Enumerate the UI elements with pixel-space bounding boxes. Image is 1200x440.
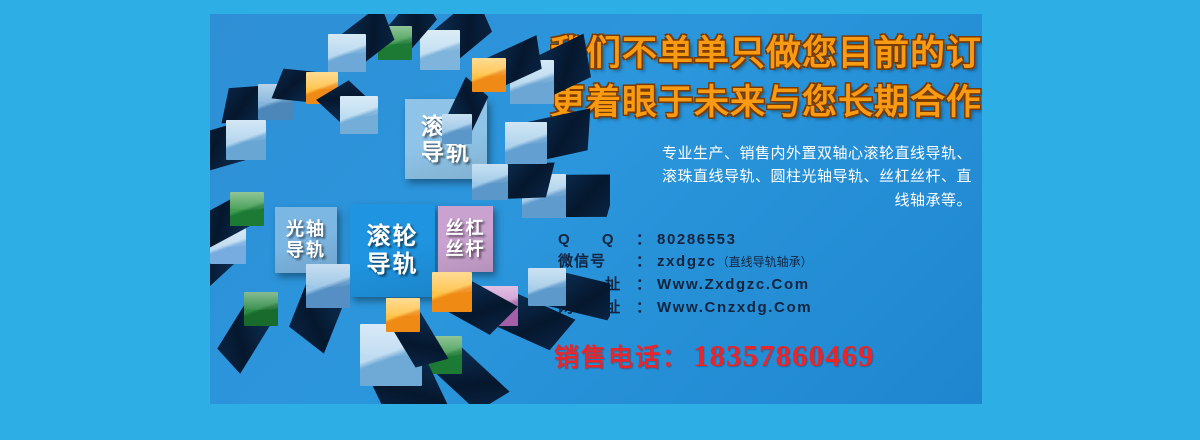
headline-line-1: 我们不单单只做您目前的订单 bbox=[550, 32, 972, 77]
cube-face bbox=[226, 120, 266, 160]
cube-block bbox=[386, 298, 420, 332]
banner-inner-panel: 滚珠导轨光轴导轨滚轮导轨丝杠丝杆 我们不单单只做您目前的订单 更着眼于未来与您长… bbox=[210, 14, 982, 404]
body-copy-line-1: 专业生产、销售内外置双轴心滚轮直线导轨、 bbox=[550, 142, 972, 166]
contact-label-qq: Q Q bbox=[558, 229, 636, 252]
cube-face bbox=[306, 264, 350, 308]
cube-gloss bbox=[432, 272, 472, 293]
cube-block bbox=[505, 122, 547, 164]
cube-gloss bbox=[442, 114, 472, 130]
cube-block bbox=[244, 292, 278, 326]
cube-face bbox=[442, 114, 472, 144]
contact-value-website2: Www.Cnzxdg.Com bbox=[657, 297, 812, 320]
cube-block bbox=[226, 120, 266, 160]
product-label-line-2: 导轨 bbox=[286, 240, 326, 261]
cube-face bbox=[386, 298, 420, 332]
cube-block bbox=[472, 58, 506, 92]
cube-face bbox=[472, 58, 506, 92]
contact-value-wechat: zxdgzc bbox=[657, 251, 717, 274]
cube-block bbox=[472, 164, 508, 200]
cube-gloss bbox=[386, 298, 420, 316]
cube-block bbox=[432, 272, 472, 312]
cube-gloss bbox=[340, 96, 378, 116]
cube-gloss bbox=[306, 72, 338, 89]
cube-block bbox=[420, 30, 460, 70]
cube-gloss bbox=[244, 292, 278, 310]
cube-face bbox=[432, 272, 472, 312]
body-copy: 专业生产、销售内外置双轴心滚轮直线导轨、 滚珠直线导轨、圆柱光轴导轨、丝杠丝杆、… bbox=[550, 142, 972, 213]
cube-gloss bbox=[306, 264, 350, 287]
contact-label-wechat: 微信号 bbox=[558, 251, 636, 274]
cube-face bbox=[244, 292, 278, 326]
contact-row-wechat: 微信号：zxdgzc（直线导轨轴承） bbox=[558, 251, 972, 274]
product-label-line-2: 导轨 bbox=[367, 251, 419, 278]
cube-block bbox=[442, 114, 472, 144]
contact-info-block: Q Q：80286553微信号：zxdgzc（直线导轨轴承）网 址：Www.Zx… bbox=[550, 229, 972, 320]
cube-gloss bbox=[328, 34, 366, 54]
product-label-line-1: 丝杠 bbox=[446, 218, 486, 239]
product-label-line-1: 光轴 bbox=[286, 219, 326, 240]
contact-colon: ： bbox=[636, 251, 651, 274]
contact-value-qq: 80286553 bbox=[657, 229, 737, 252]
cube-block bbox=[306, 264, 350, 308]
cube-gloss bbox=[472, 164, 508, 183]
sales-phone-number: 18357860469 bbox=[693, 338, 875, 374]
cube-gloss bbox=[420, 30, 460, 51]
cube-block bbox=[528, 268, 566, 306]
product-label-screw-rod: 丝杠丝杆 bbox=[438, 206, 493, 272]
cube-face bbox=[528, 268, 566, 306]
banner-text-column: 我们不单单只做您目前的订单 更着眼于未来与您长期合作 专业生产、销售内外置双轴心… bbox=[550, 32, 972, 374]
cube-gloss bbox=[230, 192, 264, 210]
product-label-roller-rail: 滚轮导轨 bbox=[350, 204, 435, 297]
cube-block bbox=[340, 96, 378, 134]
cube-face bbox=[472, 164, 508, 200]
contact-row-qq: Q Q：80286553 bbox=[558, 229, 972, 252]
contact-row-website2: 网 址：Www.Cnzxdg.Com bbox=[558, 297, 972, 320]
contact-row-website1: 网 址：Www.Zxdgzc.Com bbox=[558, 274, 972, 297]
body-copy-line-2: 滚珠直线导轨、圆柱光轴导轨、丝杠丝杆、直 bbox=[550, 165, 972, 189]
cube-gloss bbox=[472, 58, 506, 76]
cube-gloss bbox=[505, 122, 547, 144]
contact-value-website1: Www.Zxdgzc.Com bbox=[657, 274, 810, 297]
contact-note-wechat: （直线导轨轴承） bbox=[717, 253, 813, 271]
headline-line-2: 更着眼于未来与您长期合作 bbox=[550, 81, 972, 126]
contact-colon: ： bbox=[636, 229, 651, 252]
cube-face bbox=[420, 30, 460, 70]
cube-face bbox=[328, 34, 366, 72]
contact-colon: ： bbox=[636, 297, 651, 320]
product-label-line-1: 滚轮 bbox=[367, 223, 419, 250]
cube-gloss bbox=[528, 268, 566, 288]
cube-face bbox=[340, 96, 378, 134]
contact-colon: ： bbox=[636, 274, 651, 297]
cube-face bbox=[505, 122, 547, 164]
body-copy-line-3: 线轴承等。 bbox=[550, 189, 972, 213]
cube-block bbox=[328, 34, 366, 72]
cube-gloss bbox=[226, 120, 266, 141]
promo-banner: 滚珠导轨光轴导轨滚轮导轨丝杠丝杆 我们不单单只做您目前的订单 更着眼于未来与您长… bbox=[0, 0, 1200, 440]
sales-phone-label: 销售电话： bbox=[554, 338, 689, 374]
cube-block bbox=[230, 192, 264, 226]
cube-face bbox=[230, 192, 264, 226]
sales-phone-row: 销售电话： 18357860469 bbox=[550, 338, 972, 374]
product-label-line-2: 丝杆 bbox=[446, 239, 486, 260]
